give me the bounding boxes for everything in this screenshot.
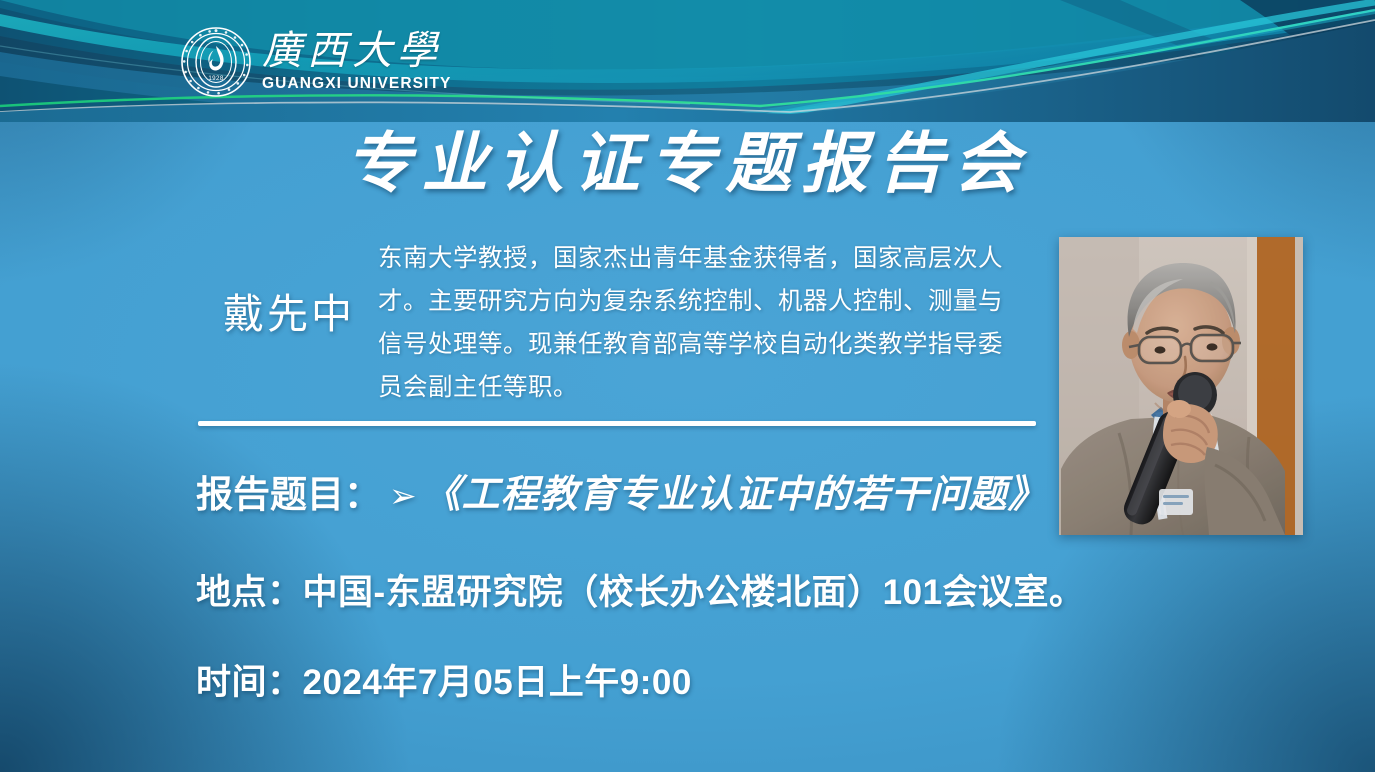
university-name-cn: 廣西大學 [262,31,442,72]
section-divider [198,421,1036,426]
university-name-en: GUANGXI UNIVERSITY [262,75,451,93]
topic-title: 《工程教育专业认证中的若干问题》 [423,471,1047,516]
seminar-poster: 1928 廣西大學 GUANGXI UNIVERSITY 专业认证专题报告会 戴… [0,0,1375,772]
poster-title: 专业认证专题报告会 [0,124,1375,202]
bio-line: 东南大学教授，国家杰出青年基金获得者，国家高层次人 [378,236,1038,279]
speaker-photo-image [1059,237,1303,535]
arrow-bullet-icon: ➢ [389,476,417,515]
university-logo: 1928 廣西大學 GUANGXI UNIVERSITY [180,21,480,103]
speaker-name: 戴先中 [204,288,374,340]
place-line: 地点：中国-东盟研究院（校长办公楼北面）101会议室。 [196,570,1085,616]
speaker-bio: 东南大学教授，国家杰出青年基金获得者，国家高层次人 才。主要研究方向为复杂系统控… [378,236,1038,408]
topic-line: 报告题目：➢《工程教育专业认证中的若干问题》 [196,470,1047,520]
speaker-photo [1059,237,1303,535]
bio-line: 员会副主任等职。 [378,365,1038,408]
bio-line: 信号处理等。现兼任教育部高等学校自动化类教学指导委 [378,322,1038,365]
speaker-section: 戴先中 东南大学教授，国家杰出青年基金获得者，国家高层次人 才。主要研究方向为复… [196,236,1036,416]
university-wordmark: 廣西大學 GUANGXI UNIVERSITY [262,31,451,93]
guangxi-university-seal-icon: 1928 [180,26,252,98]
time-line: 时间：2024年7月05日上午9:00 [196,660,692,706]
emblem-year: 1928 [208,75,224,82]
topic-label: 报告题目： [196,474,381,515]
bio-line: 才。主要研究方向为复杂系统控制、机器人控制、测量与 [378,279,1038,322]
